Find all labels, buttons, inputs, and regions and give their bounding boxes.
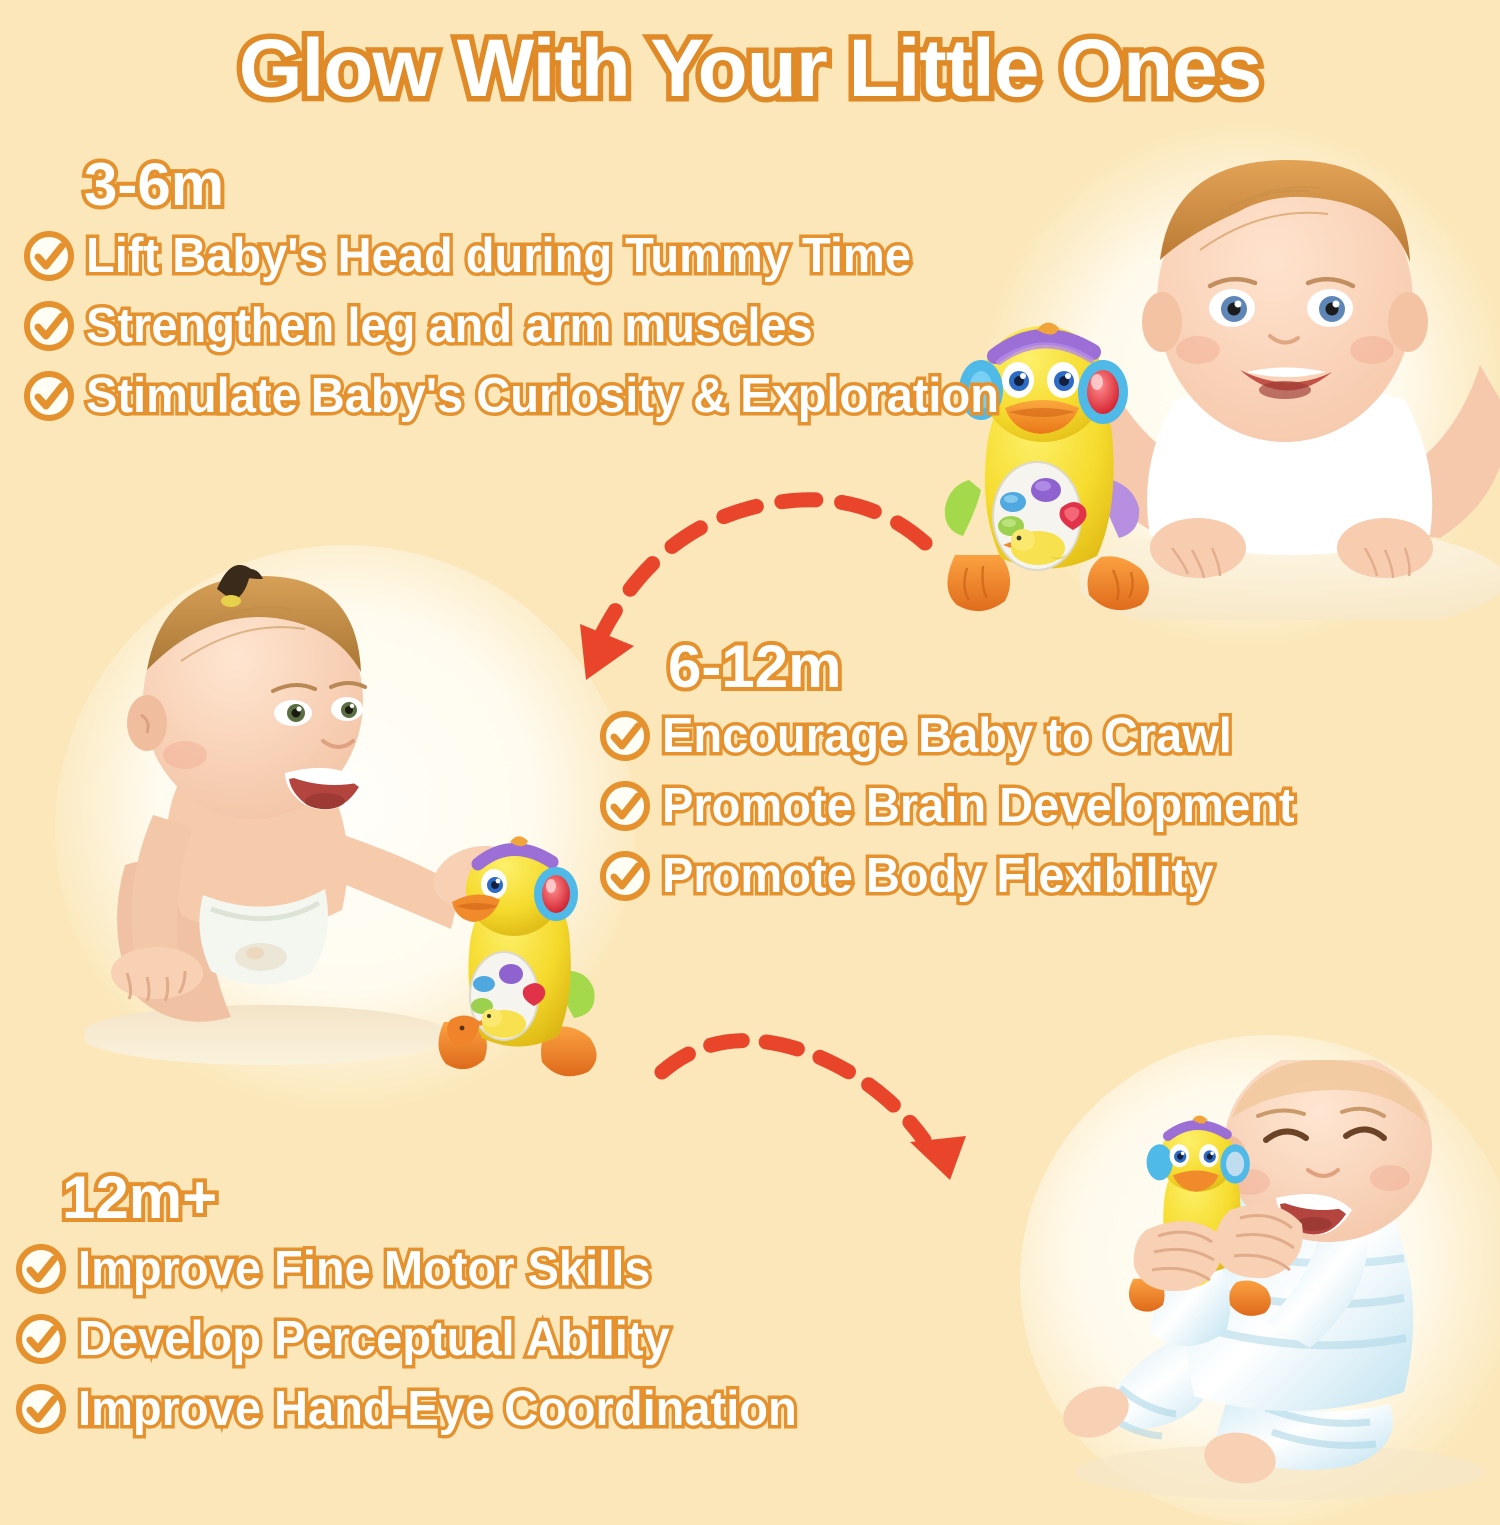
bullet-item: Develop Perceptual Ability: [14, 1312, 827, 1366]
age-label-12m-plus: 12m+: [62, 1168, 827, 1228]
bullet-label: Promote Body Flexibility: [662, 852, 1214, 901]
bullet-item: Improve Fine Motor Skills: [14, 1242, 827, 1296]
check-circle-icon: [14, 1312, 68, 1366]
bullet-item: Encourage Baby to Crawl: [598, 709, 1321, 763]
age-label-6-12m: 6-12m: [668, 637, 1321, 697]
check-circle-icon: [22, 369, 76, 423]
section-6-12m: 6-12m Encourage Baby to Crawl Promote Br…: [598, 637, 1321, 919]
check-circle-icon: [598, 709, 652, 763]
bullet-item: Improve Hand-Eye Coordination: [14, 1382, 827, 1436]
age-label-3-6m: 3-6m: [84, 155, 1037, 215]
check-circle-icon: [22, 229, 76, 283]
bullet-label: Encourage Baby to Crawl: [662, 712, 1232, 761]
check-circle-icon: [598, 779, 652, 833]
bullet-label: Improve Hand-Eye Coordination: [78, 1385, 797, 1434]
check-circle-icon: [14, 1382, 68, 1436]
bullet-label: Lift Baby's Head during Tummy Time: [86, 232, 911, 281]
bullet-label: Promote Brain Development: [662, 782, 1295, 831]
bullet-label: Improve Fine Motor Skills: [78, 1245, 650, 1294]
duck-toy-side-profile: [432, 828, 617, 1090]
bullet-label: Stimulate Baby's Curiosity & Exploration: [86, 372, 999, 421]
page-title: Glow With Your Little Ones: [0, 22, 1500, 116]
bullet-item: Promote Body Flexibility: [598, 849, 1321, 903]
bullet-item: Strengthen leg and arm muscles: [22, 299, 1037, 353]
section-3-6m: 3-6m Lift Baby's Head during Tummy Time …: [22, 155, 1037, 439]
check-circle-icon: [14, 1242, 68, 1296]
bullet-item: Lift Baby's Head during Tummy Time: [22, 229, 1037, 283]
check-circle-icon: [22, 299, 76, 353]
bullet-item: Promote Brain Development: [598, 779, 1321, 833]
bullet-label: Strengthen leg and arm muscles: [86, 302, 813, 351]
section-12m-plus: 12m+ Improve Fine Motor Skills Develop P…: [14, 1168, 827, 1452]
bullet-label: Develop Perceptual Ability: [78, 1315, 670, 1364]
bullet-item: Stimulate Baby's Curiosity & Exploration: [22, 369, 1037, 423]
check-circle-icon: [598, 849, 652, 903]
photo-baby-sitting: [1060, 1060, 1500, 1500]
